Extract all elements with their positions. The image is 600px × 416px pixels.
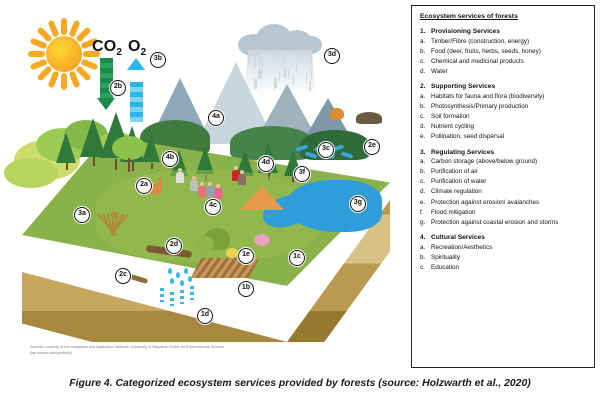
legend-item-letter: b.: [420, 254, 428, 263]
berry-bush-2: [196, 236, 214, 252]
legend-item-text: Nutrient cycling: [431, 123, 587, 132]
legend-group-2: 2.Supporting Servicesa.Habitats for faun…: [420, 83, 587, 141]
tent: [240, 186, 284, 210]
deer-neck: [158, 178, 162, 186]
legend-item: a.Timber/Fibre (construction, energy): [420, 38, 587, 47]
rain-streak: [284, 54, 286, 64]
rain-streak: [296, 63, 298, 73]
legend-item: a.Recreation/Aesthetics: [420, 244, 587, 253]
arrow-head: [127, 58, 145, 70]
o2-label: O2: [128, 38, 146, 58]
tree-canopy: [112, 136, 146, 160]
person-body: [206, 186, 214, 197]
person-body: [176, 172, 184, 183]
legend-item: a.Habitats for fauna and flora (biodiver…: [420, 93, 587, 102]
legend-item-text: Education: [431, 264, 587, 273]
legend-group-number: 3.: [420, 149, 428, 156]
legend-item-letter: c.: [420, 58, 428, 67]
marker-3b: 3b: [150, 52, 166, 68]
legend-item-letter: a.: [420, 38, 428, 47]
legend-item: e.Protection against erosion/ avalanches: [420, 199, 587, 208]
legend-item-letter: c.: [420, 113, 428, 122]
legend-group-name: Cultural Services: [431, 234, 485, 241]
legend-item-text: Pollination, seed dispersal: [431, 133, 587, 142]
rain-streak: [274, 50, 276, 60]
person: [176, 168, 184, 183]
sun-ray: [28, 51, 45, 57]
conifer-tree: [56, 132, 76, 163]
rain-streak: [306, 73, 308, 83]
rain-streak: [288, 69, 290, 79]
forest-ecosystem-illustration: CO2 O2 3b2b3d4a2e3c4b2a4d3f3a4c2d3g2c1e1…: [0, 0, 408, 372]
tree-trunk: [93, 157, 95, 166]
marker-1c: 1c: [289, 250, 305, 266]
legend-item-letter: d.: [420, 188, 428, 197]
person: [214, 184, 222, 199]
co2-label: CO2: [92, 38, 122, 58]
marker-2b: 2b: [110, 80, 126, 96]
legend-item: d.Nutrient cycling: [420, 123, 587, 132]
legend-item-letter: d.: [420, 68, 428, 77]
marker-3a: 3a: [74, 207, 90, 223]
tree-trunk: [132, 162, 134, 170]
person: [206, 182, 214, 197]
sun-ray: [61, 73, 67, 90]
marker-3g: 3g: [350, 196, 366, 212]
legend-item: a.Carbon storage (above/below ground): [420, 158, 587, 167]
legend-item-text: Timber/Fibre (construction, energy): [431, 38, 587, 47]
legend-group-heading: 2.Supporting Services: [420, 83, 587, 90]
marker-2e: 2e: [364, 139, 380, 155]
tree-trunk: [115, 159, 117, 170]
marker-4d: 4d: [258, 156, 274, 172]
marker-1b: 1b: [238, 281, 254, 297]
legend-item-letter: b.: [420, 103, 428, 112]
legend-item-text: Chemical and medicinal products: [431, 58, 587, 67]
legend-item-letter: c.: [420, 178, 428, 187]
water-droplet: [170, 278, 174, 284]
marker-4c: 4c: [205, 199, 221, 215]
rain-streak: [311, 69, 313, 79]
legend-group-1: 1.Provisioning Servicesa.Timber/Fibre (c…: [420, 28, 587, 76]
legend-item-letter: f.: [420, 209, 428, 218]
legend-item-text: Water: [431, 68, 587, 77]
legend-item: b.Photosynthesis/Primary production: [420, 103, 587, 112]
legend-item-text: Spirituality: [431, 254, 587, 263]
legend-item: c.Purification of water: [420, 178, 587, 187]
legend-item: c.Chemical and medicinal products: [420, 58, 587, 67]
marker-2c: 2c: [115, 268, 131, 284]
legend-item-text: Purification of air: [431, 168, 587, 177]
marker-2d: 2d: [166, 238, 182, 254]
person-body: [238, 174, 246, 185]
legend-groups: 1.Provisioning Servicesa.Timber/Fibre (c…: [420, 28, 587, 272]
legend-panel: Ecosystem services of forests 1.Provisio…: [411, 5, 595, 368]
legend-item-letter: e.: [420, 199, 428, 208]
water-droplet: [176, 272, 180, 278]
legend-item-letter: a.: [420, 244, 428, 253]
legend-item-text: Protection against erosion/ avalanches: [431, 199, 587, 208]
legend-group-name: Provisioning Services: [431, 28, 500, 35]
legend-group-number: 4.: [420, 234, 428, 241]
legend-item: b.Food (deer, fruits, herbs, seeds, hone…: [420, 48, 587, 57]
legend-item-text: Habitats for fauna and flora (biodiversi…: [431, 93, 587, 102]
legend-item: g.Protection against coastal erosion and…: [420, 219, 587, 228]
flower-cluster: [254, 234, 270, 246]
flower-cluster-2: [226, 248, 238, 258]
legend-item-text: Purification of water: [431, 178, 587, 187]
sun-icon: [28, 18, 100, 90]
tree-canopy: [4, 158, 58, 188]
symbol-credit-text: Symbols courtesy of the Integration and …: [30, 345, 240, 356]
legend-item-text: Food (deer, fruits, herbs, seeds, honey): [431, 48, 587, 57]
tree-trunk: [66, 163, 68, 170]
legend-item: e.Pollination, seed dispersal: [420, 133, 587, 142]
water-droplet: [188, 276, 192, 282]
marker-2a: 2a: [136, 178, 152, 194]
legend-item-letter: a.: [420, 93, 428, 102]
butterfly-icon: [330, 108, 344, 120]
legend-group-heading: 1.Provisioning Services: [420, 28, 587, 35]
legend-item: d.Climate regulation: [420, 188, 587, 197]
legend-item-letter: b.: [420, 48, 428, 57]
legend-group-name: Regulating Services: [431, 149, 494, 156]
legend-item: b.Spirituality: [420, 254, 587, 263]
legend-group-heading: 4.Cultural Services: [420, 234, 587, 241]
tree-trunk: [151, 163, 153, 170]
legend-group-number: 2.: [420, 83, 428, 90]
legend-item-text: Climate regulation: [431, 188, 587, 197]
legend-item: d.Water: [420, 68, 587, 77]
marker-3d: 3d: [324, 48, 340, 64]
person: [238, 170, 246, 185]
marker-3c: 3c: [318, 142, 334, 158]
water-droplet: [180, 280, 184, 286]
bat-icon: [356, 112, 382, 124]
legend-group-heading: 3.Regulating Services: [420, 149, 587, 156]
legend-group-3: 3.Regulating Servicesa.Carbon storage (a…: [420, 149, 587, 228]
legend-item-text: Photosynthesis/Primary production: [431, 103, 587, 112]
infiltration-arrow: [190, 286, 194, 300]
legend-group-name: Supporting Services: [431, 83, 495, 90]
legend-item: c.Education: [420, 264, 587, 273]
water-droplet: [168, 268, 172, 274]
legend-item-letter: b.: [420, 168, 428, 177]
legend-item: c.Soil formation: [420, 113, 587, 122]
infiltration-arrow: [170, 292, 174, 306]
legend-title: Ecosystem services of forests: [420, 13, 587, 20]
infiltration-arrow: [180, 290, 184, 304]
person-body: [198, 186, 206, 197]
rain-streak: [279, 72, 281, 82]
legend-item-text: Recreation/Aesthetics: [431, 244, 587, 253]
figure-caption: Figure 4. Categorized ecosystem services…: [0, 378, 600, 389]
infiltration-arrow: [160, 288, 164, 302]
marker-4b: 4b: [162, 151, 178, 167]
person: [190, 176, 198, 191]
legend-item-letter: g.: [420, 219, 428, 228]
rain-streak: [311, 55, 313, 65]
person-body: [214, 188, 222, 199]
figure-page: CO2 O2 3b2b3d4a2e3c4b2a4d3f3a4c2d3g2c1e1…: [0, 0, 600, 416]
marker-3f: 3f: [294, 166, 310, 182]
water-droplet: [184, 268, 188, 274]
legend-item: b.Purification of air: [420, 168, 587, 177]
legend-group-number: 1.: [420, 28, 428, 35]
sun-ray: [47, 70, 59, 88]
person-body: [190, 180, 198, 191]
legend-item-text: Soil formation: [431, 113, 587, 122]
legend-group-4: 4.Cultural Servicesa.Recreation/Aestheti…: [420, 234, 587, 272]
marker-1d: 1d: [197, 308, 213, 324]
person: [198, 182, 206, 197]
marker-4a: 4a: [208, 110, 224, 126]
legend-item-letter: d.: [420, 123, 428, 132]
tree-trunk: [128, 158, 130, 172]
legend-item-letter: e.: [420, 133, 428, 142]
legend-item-text: Protection against coastal erosion and s…: [431, 219, 587, 228]
marker-1e: 1e: [238, 248, 254, 264]
sun-ray: [61, 18, 67, 35]
legend-item-text: Flood mitigation: [431, 209, 587, 218]
legend-item-letter: a.: [420, 158, 428, 167]
rain-streak: [284, 68, 286, 78]
legend-item-text: Carbon storage (above/below ground): [431, 158, 587, 167]
arrow-head: [97, 98, 115, 110]
legend-item: f.Flood mitigation: [420, 209, 587, 218]
legend-item-letter: c.: [420, 264, 428, 273]
